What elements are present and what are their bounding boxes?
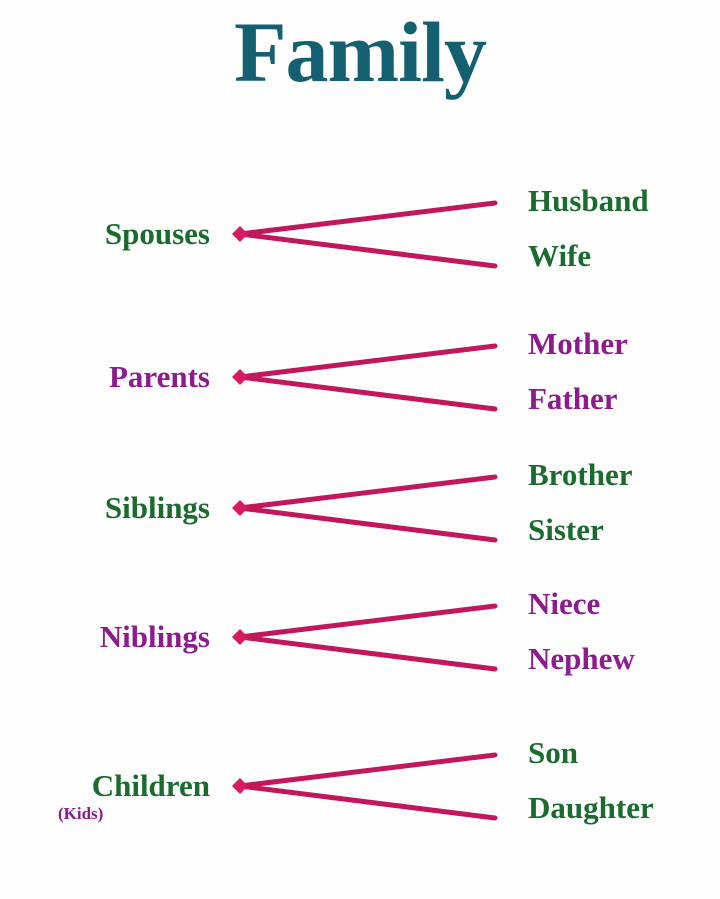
branch-connector-children [228,726,508,846]
diagram-row: Spouses Husband Wife [0,174,720,294]
page-title: Family [0,2,720,102]
diagram-row: Children (Kids) Son Daughter [0,726,720,846]
category-label-niblings: Niblings [0,620,210,654]
member-label-father: Father [528,382,618,416]
branch-lines-icon [228,448,508,568]
member-label-niece: Niece [528,587,600,621]
category-sublabel-kids: (Kids) [0,804,210,824]
member-label-wife: Wife [528,239,591,273]
diagram-row: Siblings Brother Sister [0,448,720,568]
category-label-parents: Parents [0,360,210,394]
branch-vertex-marker [232,629,248,645]
diagram-row: Niblings Niece Nephew [0,577,720,697]
branch-vertex-marker [232,500,248,516]
member-label-son: Son [528,736,578,770]
branch-connector-parents [228,317,508,437]
branch-vertex-marker [232,778,248,794]
diagram-row: Parents Mother Father [0,317,720,437]
member-label-mother: Mother [528,327,628,361]
family-diagram: Family Spouses Husband Wife Parents Moth [0,0,720,899]
category-label-spouses: Spouses [0,217,210,251]
member-label-daughter: Daughter [528,791,654,825]
branch-lines-icon [228,726,508,846]
branch-connector-spouses [228,174,508,294]
branch-lines-icon [228,174,508,294]
branch-connector-siblings [228,448,508,568]
branch-connector-niblings [228,577,508,697]
category-label-siblings: Siblings [0,491,210,525]
member-label-brother: Brother [528,458,632,492]
member-label-nephew: Nephew [528,642,635,676]
branch-vertex-marker [232,369,248,385]
branch-lines-icon [228,577,508,697]
member-label-husband: Husband [528,184,649,218]
branch-lines-icon [228,317,508,437]
member-label-sister: Sister [528,513,604,547]
branch-vertex-marker [232,226,248,242]
category-label-children: Children [0,769,210,803]
